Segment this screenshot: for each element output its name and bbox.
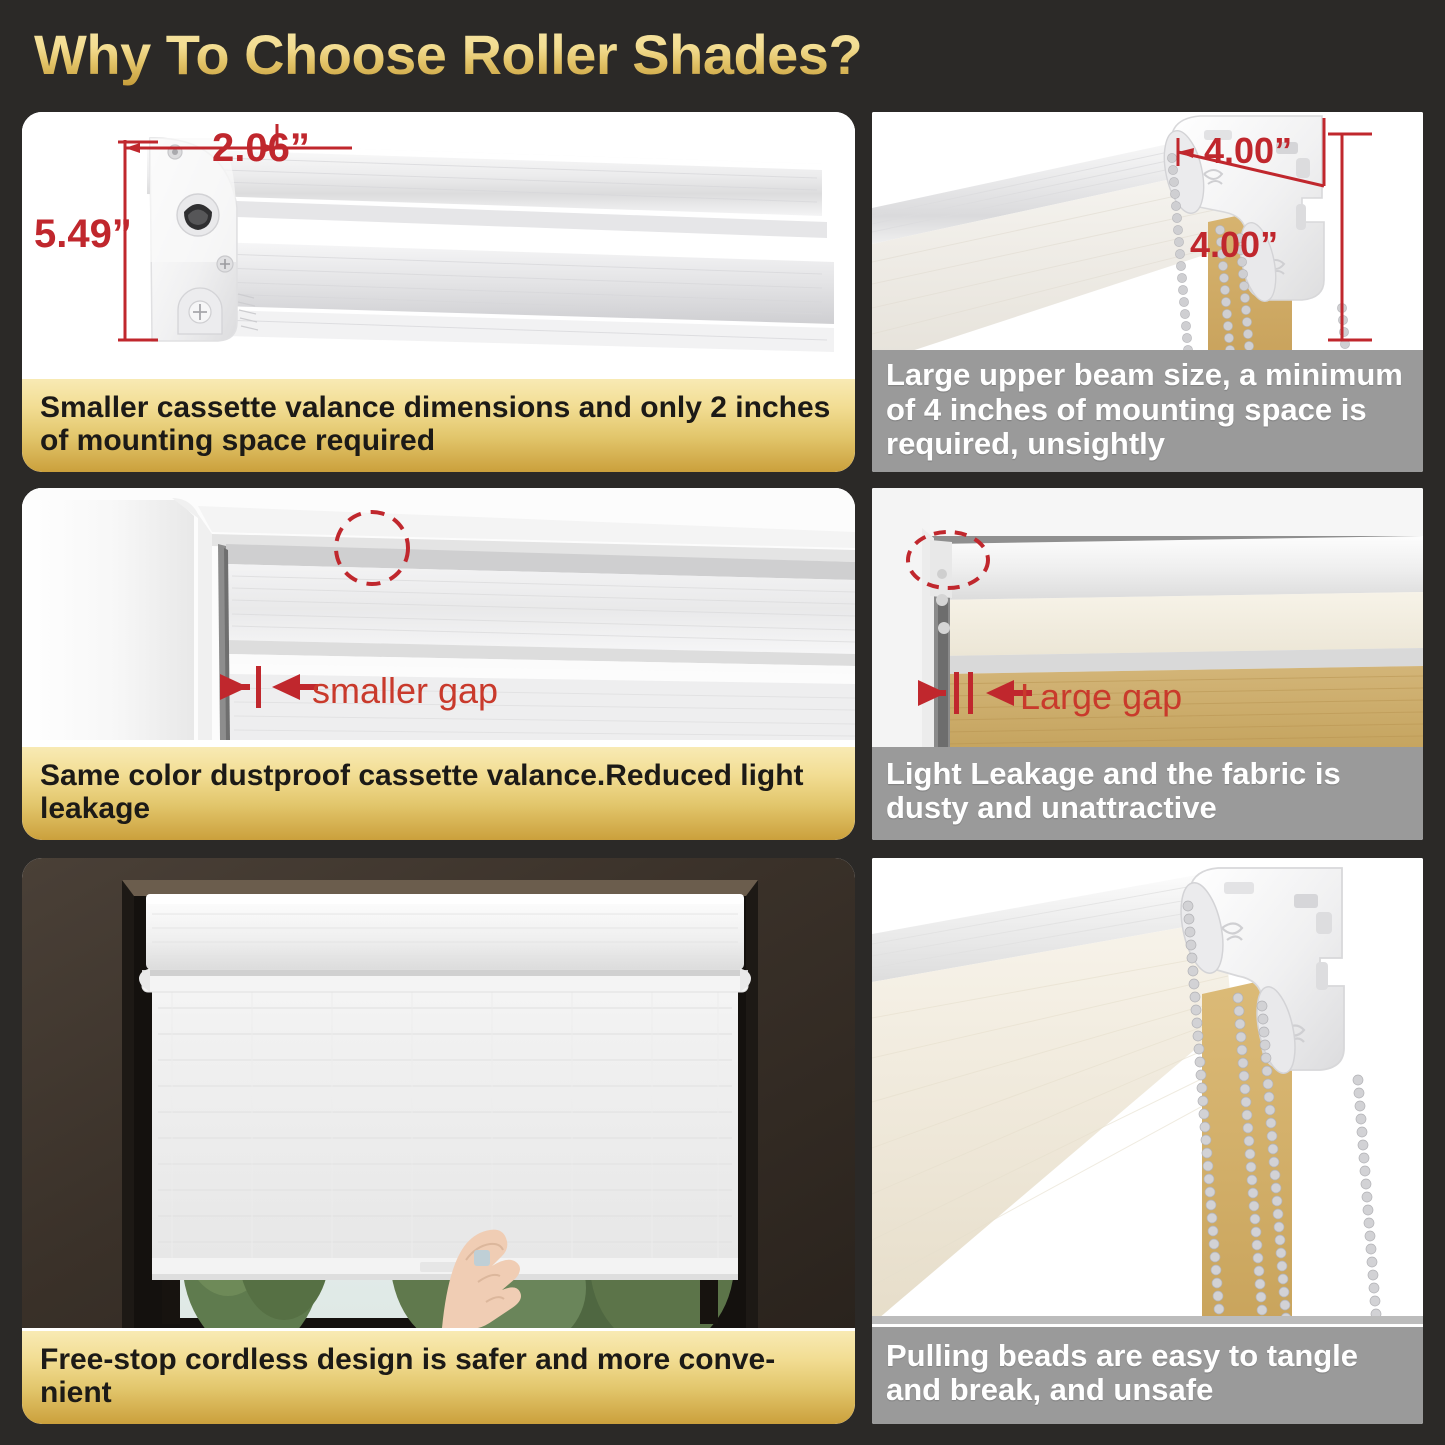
photo-large-beam-bracket: 4.00” 4.00” <box>872 112 1423 364</box>
caption-bad-row3: Pulling beads are easy to tangle and bre… <box>872 1327 1423 1424</box>
panel-bad-row1: 4.00” 4.00” Large upper beam size, a min… <box>872 112 1423 472</box>
caption-good-row3: Free-stop cordless design is safer and m… <box>22 1331 855 1424</box>
dimension-label-width-400: 4.00” <box>1204 130 1292 172</box>
dimension-label-width-206: 2.06” <box>212 126 310 171</box>
caption-good-row2: Same color dustproof cassette valance.Re… <box>22 747 855 840</box>
dimension-label-height-400: 4.00” <box>1190 224 1278 266</box>
photo-bead-chain-shade <box>872 858 1423 1324</box>
panel-good-row3: Free-stop cordless design is safer and m… <box>22 858 855 1424</box>
caption-bad-row1: Large upper beam size, a minimum of 4 in… <box>872 350 1423 472</box>
page-title: Why To Choose Roller Shades? <box>34 22 862 87</box>
photo-light-leakage: Large gap <box>872 488 1423 750</box>
caption-good-row1: Smaller cassette valance dimensions and … <box>22 379 855 472</box>
panel-bad-row2: Large gap Light Leakage and the fabric i… <box>872 488 1423 840</box>
panel-bad-row3: Pulling beads are easy to tangle and bre… <box>872 858 1423 1424</box>
gap-label-smaller: smaller gap <box>312 670 498 712</box>
infographic-root: Why To Choose Roller Shades? <box>0 0 1445 1445</box>
dimension-label-height-549: 5.49” <box>34 212 132 257</box>
photo-cassette-valance: 2.06” 5.49” <box>22 112 855 374</box>
gap-label-large: Large gap <box>1020 676 1182 718</box>
panel-good-row2: smaller gap Same color dustproof cassett… <box>22 488 855 840</box>
caption-bad-row2: Light Leakage and the fabric is dusty an… <box>872 747 1423 840</box>
photo-cordless-window-scene <box>22 858 855 1328</box>
panel-good-row1: 2.06” 5.49” Smaller cassette valance dim… <box>22 112 855 472</box>
photo-dustproof-cassette: smaller gap <box>22 488 855 740</box>
